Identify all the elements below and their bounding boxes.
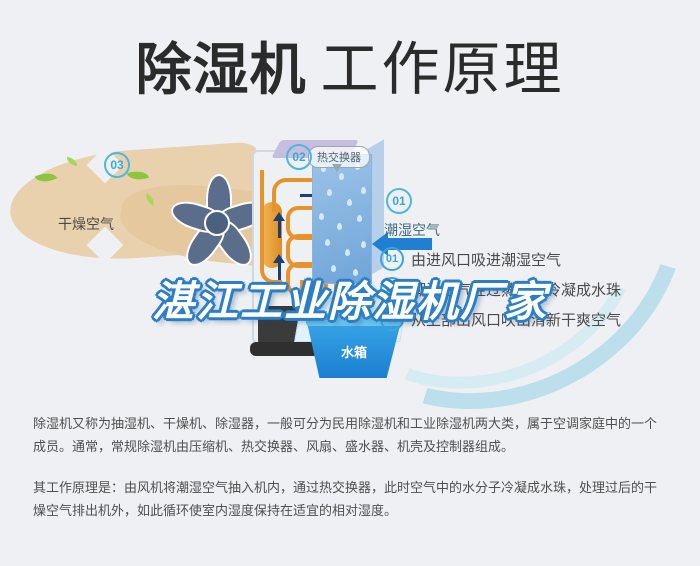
step-text: 从上部出风口吹出清新干爽空气 bbox=[411, 309, 621, 330]
heat-exchanger-callout-tail bbox=[332, 164, 342, 172]
step-text: 潮湿空气经过蒸发器冷凝成水珠 bbox=[411, 279, 621, 300]
description-copy: 除湿机又称为抽湿机、干燥机、除湿器，一般可分为民用除湿机和工业除湿机两大类，属于… bbox=[33, 412, 669, 522]
evaporator-block bbox=[312, 154, 372, 284]
list-item: 01 由进风口吸进潮湿空气 bbox=[380, 244, 680, 274]
badge-02-heat-exchanger: 02 bbox=[286, 144, 312, 170]
flow-arrow-up bbox=[273, 212, 285, 221]
paragraph-1: 除湿机又称为抽湿机、干燥机、除湿器，一般可分为民用除湿机和工业除湿机两大类，属于… bbox=[33, 412, 669, 458]
step-badge: 02 bbox=[380, 277, 404, 301]
list-item: 03 从上部出风口吹出清新干爽空气 bbox=[380, 304, 680, 334]
step-text: 由进风口吸进潮湿空气 bbox=[411, 249, 561, 270]
flow-arrow-stem bbox=[278, 262, 281, 280]
dry-air-label: 干燥空气 bbox=[58, 214, 114, 234]
flow-arrow-up bbox=[273, 254, 285, 263]
list-item: 02 潮湿空气经过蒸发器冷凝成水珠 bbox=[380, 274, 680, 304]
humid-air-label: 潮湿空气 bbox=[384, 220, 440, 240]
water-tank-label: 水箱 bbox=[306, 342, 402, 361]
process-step-list: 01 由进风口吸进潮湿空气 02 潮湿空气经过蒸发器冷凝成水珠 03 从上部出风… bbox=[380, 244, 680, 334]
paragraph-2: 其工作原理是：由风机将潮湿空气抽入机内，通过热交换器，此时空气中的水分子冷凝成水… bbox=[33, 476, 669, 522]
step-badge: 01 bbox=[380, 247, 404, 271]
badge-03-dry-air: 03 bbox=[104, 152, 130, 178]
step-badge: 03 bbox=[380, 307, 404, 331]
badge-01-humid-air: 01 bbox=[386, 188, 412, 214]
flow-arrow-stem bbox=[278, 220, 281, 238]
page-title-bold: 除湿机 bbox=[135, 38, 306, 101]
